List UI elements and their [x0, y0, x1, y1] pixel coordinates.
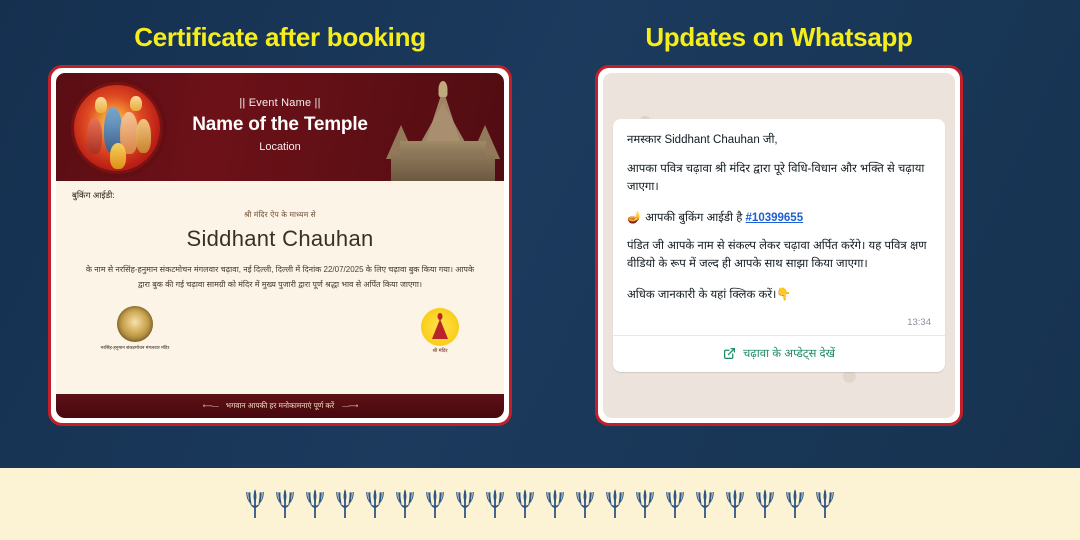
whatsapp-time-row: 13:34 — [627, 316, 931, 335]
diya-lamp-icon: 🪔 — [627, 210, 642, 224]
panels-row: || Event Name || Name of the Temple Loca… — [0, 53, 1080, 426]
trident-icon — [784, 487, 806, 521]
booking-id-label: बुकिंग आईडी: — [72, 190, 488, 201]
view-updates-button[interactable]: चढ़ावा के अप्डेट्स देखें — [627, 336, 931, 372]
certificate-frame: || Event Name || Name of the Temple Loca… — [48, 65, 512, 426]
whatsapp-message-bubble: नमस्कार Siddhant Chauhan जी, आपका पवित्र… — [613, 119, 945, 372]
heading-whatsapp: Updates on Whatsapp — [560, 22, 1080, 53]
booking-id-link[interactable]: #10399655 — [746, 212, 804, 224]
cta-prompt-text: अधिक जानकारी के यहां क्लिक करें। — [627, 289, 776, 301]
whatsapp-panel: नमस्कार Siddhant Chauhan जी, आपका पवित्र… — [560, 65, 1080, 426]
trident-icon — [634, 487, 656, 521]
whatsapp-booking-line: 🪔 आपकी बुकिंग आईडी है #10399655 — [627, 208, 931, 228]
trident-icon — [364, 487, 386, 521]
temple-spire-image — [384, 73, 502, 181]
certificate-header: || Event Name || Name of the Temple Loca… — [56, 73, 504, 181]
footer-left-dash: ⟵— — [203, 402, 218, 410]
external-link-icon — [723, 347, 736, 360]
whatsapp-greeting: नमस्कार Siddhant Chauhan जी, — [627, 132, 931, 150]
headings-row: Certificate after booking Updates on Wha… — [0, 0, 1080, 53]
certificate-footer-text: भगवान आपकी हर मनोकामनाएं पूर्ण करें — [226, 401, 334, 411]
trident-icon — [454, 487, 476, 521]
heading-certificate: Certificate after booking — [0, 22, 560, 53]
trident-icon — [394, 487, 416, 521]
trident-icon — [484, 487, 506, 521]
booking-line-text: आपकी बुकिंग आईडी है — [645, 212, 745, 224]
bottom-trident-strip — [0, 468, 1080, 540]
footer-right-dash: —⟶ — [342, 402, 357, 410]
certificate: || Event Name || Name of the Temple Loca… — [56, 73, 504, 418]
pointing-down-icon: 👇 — [776, 287, 791, 301]
shri-mandir-logo: श्री मंदिर — [412, 308, 468, 354]
trident-icon — [424, 487, 446, 521]
trident-icon — [514, 487, 536, 521]
certificate-seals: नरसिंह-हनुमान संकटमोचन मंगलवार मंदिर श्र… — [56, 306, 504, 368]
whatsapp-chat: नमस्कार Siddhant Chauhan जी, आपका पवित्र… — [603, 73, 955, 418]
trident-icon — [604, 487, 626, 521]
certificate-footer: ⟵— भगवान आपकी हर मनोकामनाएं पूर्ण करें —… — [56, 394, 504, 418]
trident-icon — [304, 487, 326, 521]
whatsapp-frame: नमस्कार Siddhant Chauhan जी, आपका पवित्र… — [595, 65, 963, 426]
temple-seal-icon — [117, 306, 153, 342]
certificate-panel: || Event Name || Name of the Temple Loca… — [0, 65, 560, 426]
temple-seal: नरसिंह-हनुमान संकटमोचन मंगलवार मंदिर — [92, 306, 178, 352]
certificate-body: बुकिंग आईडी: श्री मंदिर ऐप के माध्यम से … — [56, 181, 504, 394]
shri-mandir-logo-caption: श्री मंदिर — [412, 348, 468, 354]
devotee-name: Siddhant Chauhan — [72, 226, 488, 252]
trident-icon — [694, 487, 716, 521]
whatsapp-cta-prompt: अधिक जानकारी के यहां क्लिक करें।👇 — [627, 285, 931, 305]
certificate-paragraph: के नाम से नरसिंह-हनुमान संकटमोचन मंगलवार… — [72, 263, 488, 293]
whatsapp-paragraph-2: पंडित जी आपके नाम से संकल्प लेकर चढ़ावा … — [627, 238, 931, 274]
trident-icon — [544, 487, 566, 521]
trident-icon — [334, 487, 356, 521]
trident-icon — [724, 487, 746, 521]
trident-icon — [814, 487, 836, 521]
trident-icon — [754, 487, 776, 521]
trident-icon — [274, 487, 296, 521]
trident-icon — [244, 487, 266, 521]
message-timestamp: 13:34 — [907, 317, 931, 328]
trident-icon — [574, 487, 596, 521]
through-app-text: श्री मंदिर ऐप के माध्यम से — [72, 210, 488, 220]
shri-mandir-logo-icon — [421, 308, 459, 346]
trident-icon — [664, 487, 686, 521]
temple-seal-caption: नरसिंह-हनुमान संकटमोचन मंगलवार मंदिर — [92, 345, 178, 352]
whatsapp-paragraph-1: आपका पवित्र चढ़ावा श्री मंदिर द्वारा पूर… — [627, 161, 931, 197]
view-updates-label: चढ़ावा के अप्डेट्स देखें — [743, 346, 835, 361]
